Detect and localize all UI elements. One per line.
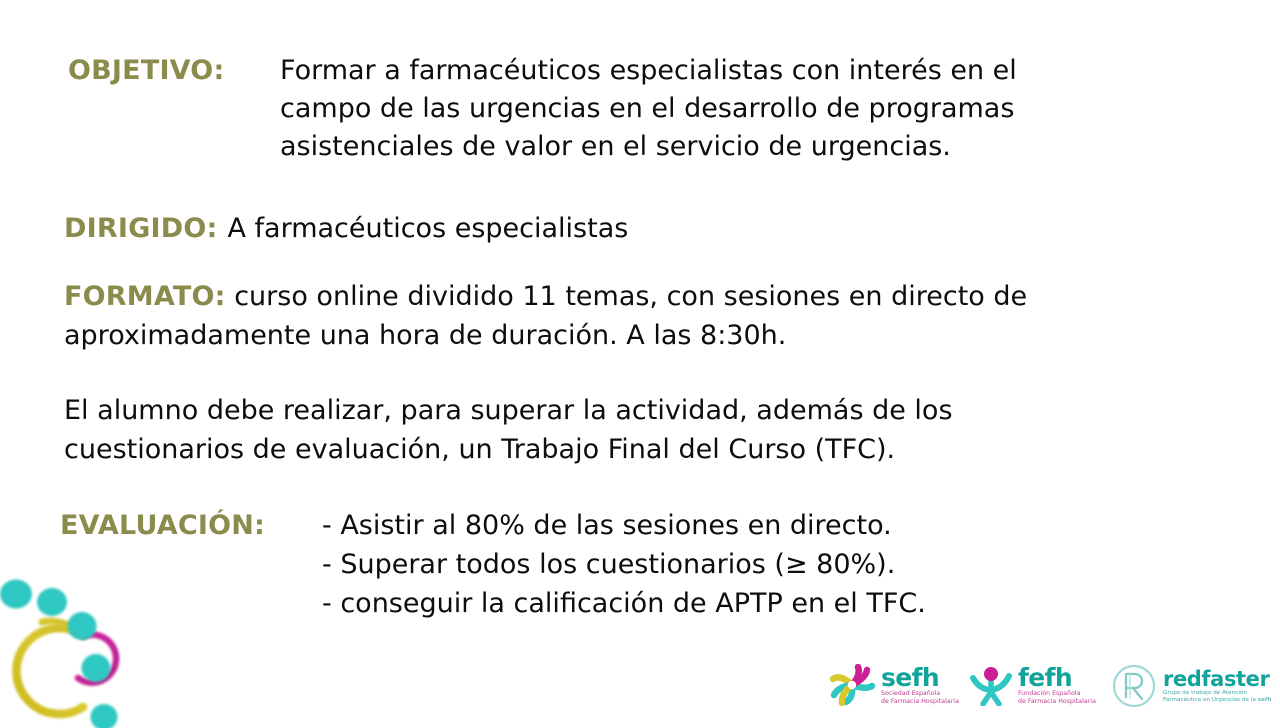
logo-redfaster: redfaster Grupo de trabajo de Atención F… [1108,663,1272,709]
fefh-sub-2: de Farmacia Hospitalaria [1018,698,1096,706]
teal-dot-2 [37,588,67,616]
evaluacion-section: EVALUACIÓN: - Asistir al 80% de las sesi… [60,506,926,623]
dirigido-text: A farmacéuticos especialistas [227,210,628,248]
logo-fefh: fefh Fundación Española de Farmacia Hosp… [968,664,1096,706]
fefh-word: fefh [1018,665,1096,690]
redfaster-sub-1: Grupo de trabajo de Atención [1163,690,1272,697]
formato-line-2: aproximadamente una hora de duración. A … [64,316,1027,355]
evaluacion-items: - Asistir al 80% de las sesiones en dire… [322,506,926,623]
evaluacion-item-1: - Asistir al 80% de las sesiones en dire… [322,506,926,545]
tfc-line-2: cuestionarios de evaluación, un Trabajo … [64,430,953,469]
tfc-line-1: El alumno debe realizar, para superar la… [64,391,953,430]
objetivo-section: OBJETIVO: Formar a farmacéuticos especia… [68,52,1017,166]
evaluacion-item-2: - Superar todos los cuestionarios (≥ 80%… [322,545,926,584]
sefh-wordmark: sefh Sociedad Española de Farmacia Hospi… [881,665,959,705]
redfaster-word: redfaster [1163,669,1272,690]
teal-dot-5 [91,704,118,728]
dirigido-label: DIRIGIDO: [64,210,217,248]
objetivo-line-3: asistenciales de valor en el servicio de… [280,128,1017,166]
evaluacion-label: EVALUACIÓN: [60,506,265,545]
objetivo-line-2: campo de las urgencias en el desarrollo … [280,90,1017,128]
evaluacion-item-3: - conseguir la calificación de APTP en e… [322,584,926,623]
redfaster-sub-2: Farmacéutica en Urgencias de la sefh [1163,697,1272,704]
dirigido-section: DIRIGIDO:A farmacéuticos especialistas [64,210,628,248]
redfaster-wordmark: redfaster Grupo de trabajo de Atención F… [1163,669,1272,704]
sefh-sub-2: de Farmacia Hospitalaria [881,698,959,706]
formato-text-1: curso online dividido 11 temas, con sesi… [226,281,1028,312]
bubbles-and-ring-graphic [0,556,156,728]
fefh-figure-icon [968,664,1014,706]
tfc-paragraph: El alumno debe realizar, para superar la… [64,391,953,469]
formato-label: FORMATO: [64,281,226,312]
teal-dot-4 [82,654,111,682]
redfaster-monogram-icon [1108,663,1160,709]
fefh-wordmark: fefh Fundación Española de Farmacia Hosp… [1018,665,1096,705]
objetivo-label: OBJETIVO: [68,52,253,90]
sefh-word: sefh [881,665,959,690]
objetivo-body: Formar a farmacéuticos especialistas con… [280,52,1017,166]
redfaster-sub-2-text: Farmacéutica en Urgencias de la [1163,697,1258,703]
sefh-sub-1: Sociedad Española [881,690,959,698]
objetivo-line-1: Formar a farmacéuticos especialistas con… [280,52,1017,90]
fefh-sub-1: Fundación Española [1018,690,1096,698]
teal-dot-1 [0,580,32,609]
gold-ring-arc [16,628,83,714]
formato-line-1: FORMATO: curso online dividido 11 temas,… [64,277,1027,316]
slide-canvas: OBJETIVO: Formar a farmacéuticos especia… [0,0,1280,720]
teal-dot-3 [68,612,97,640]
sefh-pinwheel-icon [828,664,876,706]
redfaster-sub-2-bold: sefh [1258,697,1272,703]
logo-sefh: sefh Sociedad Española de Farmacia Hospi… [828,664,959,706]
formato-section: FORMATO: curso online dividido 11 temas,… [64,277,1027,355]
